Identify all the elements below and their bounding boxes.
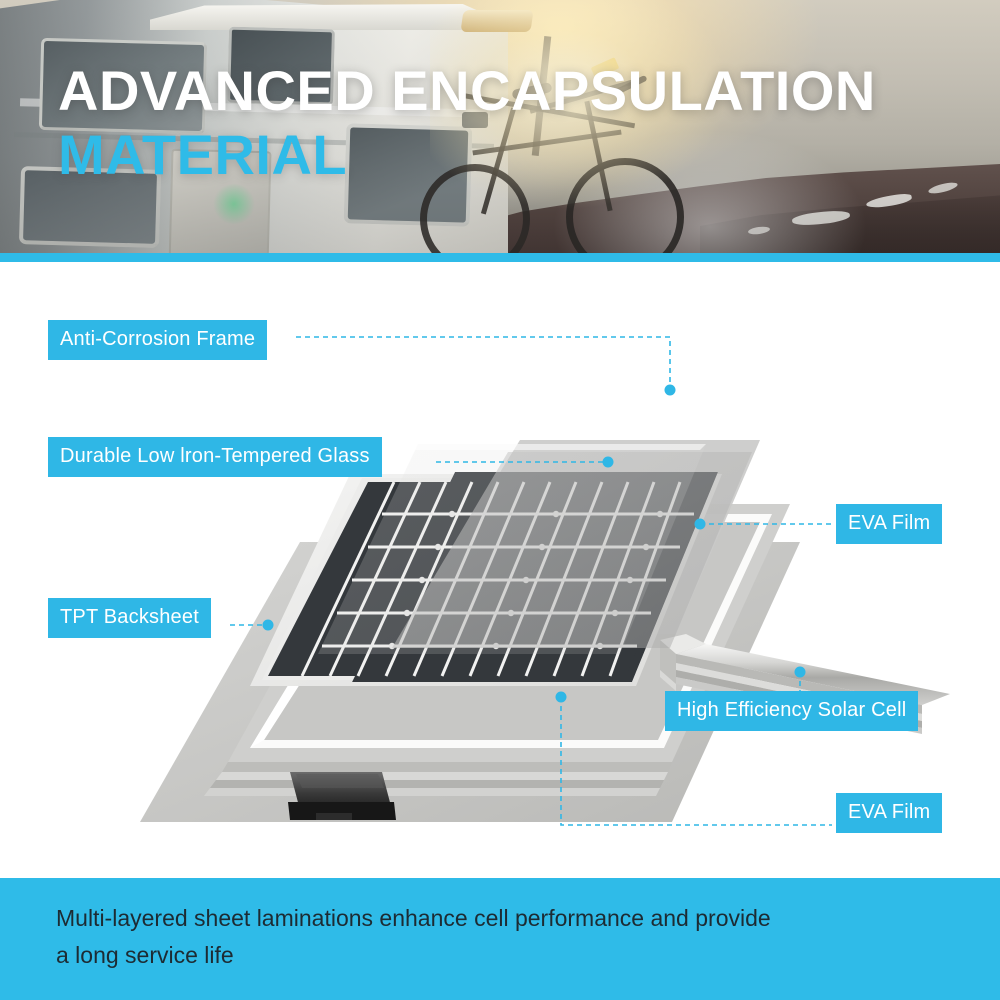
footer-caption-line2: a long service life (56, 937, 956, 974)
hero-banner: ADVANCED ENCAPSULATION MATERIAL (0, 0, 1000, 262)
footer-caption-bar: Multi-layered sheet laminations enhance … (0, 878, 1000, 1000)
leader-dot-eva-bottom (556, 692, 567, 703)
footer-caption-line1: Multi-layered sheet laminations enhance … (56, 900, 956, 937)
label-tempered-glass[interactable]: Durable Low lron-Tempered Glass (48, 437, 382, 477)
footer-caption: Multi-layered sheet laminations enhance … (56, 900, 956, 975)
label-anti-corrosion-frame[interactable]: Anti-Corrosion Frame (48, 320, 267, 360)
leader-dot-eva-top (695, 519, 706, 530)
leader-dot-cell (795, 667, 806, 678)
leader-dot-frame (665, 385, 676, 396)
hero-title-block: ADVANCED ENCAPSULATION MATERIAL (58, 62, 876, 184)
label-eva-film-top[interactable]: EVA Film (836, 504, 942, 544)
hero-accent-stripe (0, 253, 1000, 262)
product-infographic: ADVANCED ENCAPSULATION MATERIAL (0, 0, 1000, 1000)
label-eva-film-bottom[interactable]: EVA Film (836, 793, 942, 833)
label-tpt-backsheet[interactable]: TPT Backsheet (48, 598, 211, 638)
leader-dot-backsheet (263, 620, 274, 631)
leader-dot-glass (603, 457, 614, 468)
hero-title-line1: ADVANCED ENCAPSULATION (58, 62, 876, 120)
label-high-efficiency-solar-cell[interactable]: High Efficiency Solar Cell (665, 691, 918, 731)
hero-title-line2: MATERIAL (58, 126, 876, 184)
